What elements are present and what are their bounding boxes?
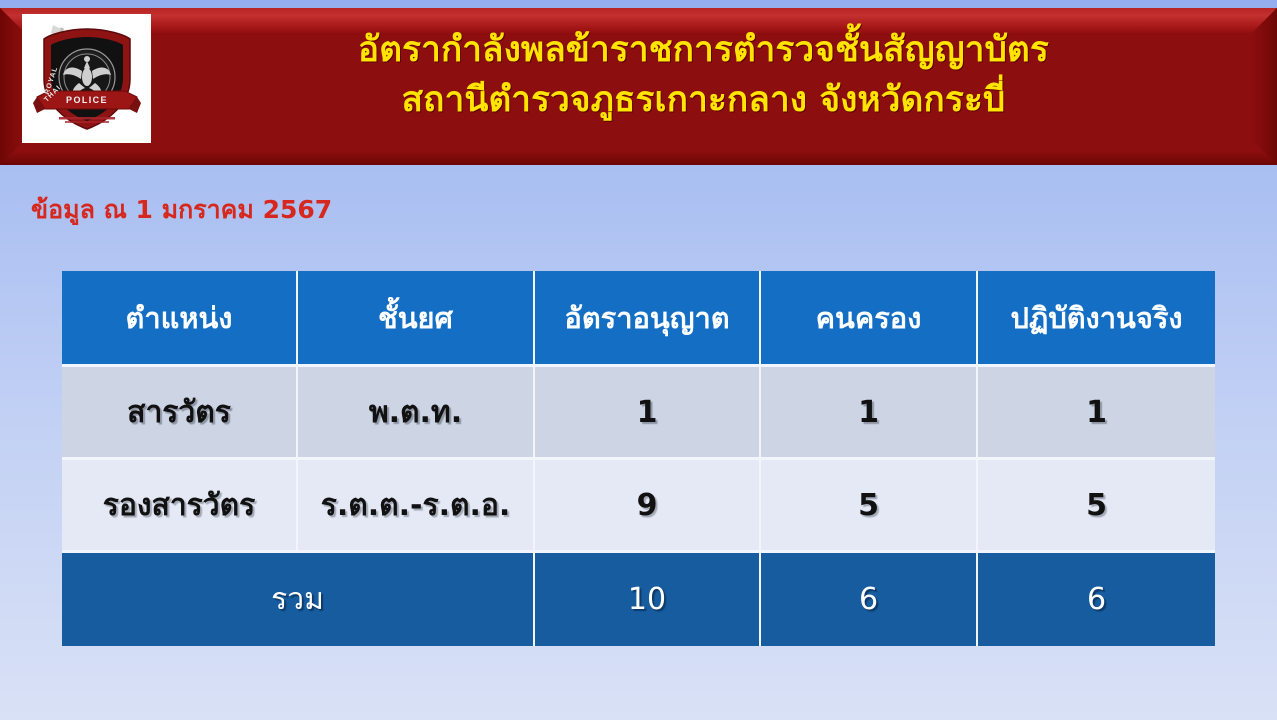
personnel-table: ตำแหน่ง ชั้นยศ อัตราอนุญาต คนครอง ปฏิบัต… — [62, 271, 1215, 646]
cell-position: สารวัตร — [62, 367, 298, 460]
column-header-actual: ปฏิบัติงานจริง — [978, 271, 1215, 367]
column-header-position: ตำแหน่ง — [62, 271, 298, 367]
cell-occupied: 5 — [761, 460, 978, 553]
cell-authorized: 1 — [535, 367, 761, 460]
table-header: ตำแหน่ง ชั้นยศ อัตราอนุญาต คนครอง ปฏิบัต… — [62, 271, 1215, 367]
column-header-rank: ชั้นยศ — [298, 271, 535, 367]
banner-bottom-bevel — [0, 151, 1277, 165]
page-title-line-1: อัตรากำลังพลข้าราชการตำรวจชั้นสัญญาบัตร — [170, 26, 1237, 76]
page-title: อัตรากำลังพลข้าราชการตำรวจชั้นสัญญาบัตร … — [170, 26, 1237, 125]
table-row: รองสารวัตร ร.ต.ต.-ร.ต.อ. 9 5 5 — [62, 460, 1215, 553]
data-as-of-date: ข้อมูล ณ 1 มกราคม 2567 — [31, 190, 332, 230]
svg-text:POLICE: POLICE — [66, 95, 108, 105]
column-header-occupied: คนครอง — [761, 271, 978, 367]
police-emblem-icon: POLICE ROYAL THAI — [29, 21, 145, 137]
cell-actual: 5 — [978, 460, 1215, 553]
page-title-line-2: สถานีตำรวจภูธรเกาะกลาง จังหวัดกระบี่ — [170, 76, 1237, 126]
cell-actual: 1 — [978, 367, 1215, 460]
table-body: สารวัตร พ.ต.ท. 1 1 1 รองสารวัตร ร.ต.ต.-ร… — [62, 367, 1215, 646]
table-header-row: ตำแหน่ง ชั้นยศ อัตราอนุญาต คนครอง ปฏิบัต… — [62, 271, 1215, 367]
cell-total-occupied: 6 — [761, 553, 978, 646]
cell-authorized: 9 — [535, 460, 761, 553]
banner-right-bevel — [1251, 8, 1277, 165]
cell-occupied: 1 — [761, 367, 978, 460]
logo-container: POLICE ROYAL THAI — [22, 14, 151, 143]
cell-total-actual: 6 — [978, 553, 1215, 646]
cell-rank: พ.ต.ท. — [298, 367, 535, 460]
header-banner: อัตรากำลังพลข้าราชการตำรวจชั้นสัญญาบัตร … — [0, 8, 1277, 165]
table-row: สารวัตร พ.ต.ท. 1 1 1 — [62, 367, 1215, 460]
column-header-authorized: อัตราอนุญาต — [535, 271, 761, 367]
cell-total-label: รวม — [62, 553, 535, 646]
table-total-row: รวม 10 6 6 — [62, 553, 1215, 646]
cell-total-authorized: 10 — [535, 553, 761, 646]
cell-rank: ร.ต.ต.-ร.ต.อ. — [298, 460, 535, 553]
cell-position: รองสารวัตร — [62, 460, 298, 553]
